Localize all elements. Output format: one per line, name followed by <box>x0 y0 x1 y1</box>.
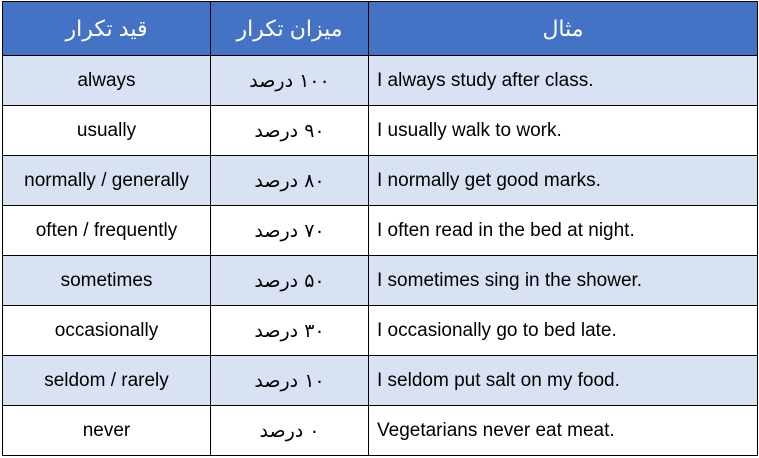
cell-adverb: sometimes <box>3 256 211 306</box>
cell-adverb: often / frequently <box>3 206 211 256</box>
cell-adverb: never <box>3 406 211 456</box>
cell-frequency: ۷۰ درصد <box>211 206 369 256</box>
table-header-row: قید تکرار میزان تکرار مثال <box>3 2 758 56</box>
cell-frequency: ۱۰ درصد <box>211 356 369 406</box>
cell-frequency: ۵۰ درصد <box>211 256 369 306</box>
cell-frequency: ۳۰ درصد <box>211 306 369 356</box>
cell-example: I sometimes sing in the shower. <box>369 256 758 306</box>
column-header-example: مثال <box>369 2 758 56</box>
cell-example: I usually walk to work. <box>369 106 758 156</box>
cell-frequency: ۰ درصد <box>211 406 369 456</box>
cell-frequency: ۸۰ درصد <box>211 156 369 206</box>
cell-frequency: ۹۰ درصد <box>211 106 369 156</box>
table-row: never ۰ درصد Vegetarians never eat meat. <box>3 406 758 456</box>
column-header-frequency: میزان تکرار <box>211 2 369 56</box>
cell-example: I occasionally go to bed late. <box>369 306 758 356</box>
frequency-adverbs-table-container: قید تکرار میزان تکرار مثال always ۱۰۰ در… <box>2 1 757 454</box>
table-row: always ۱۰۰ درصد I always study after cla… <box>3 56 758 106</box>
cell-frequency: ۱۰۰ درصد <box>211 56 369 106</box>
table-row: usually ۹۰ درصد I usually walk to work. <box>3 106 758 156</box>
frequency-adverbs-table: قید تکرار میزان تکرار مثال always ۱۰۰ در… <box>2 1 758 456</box>
cell-adverb: seldom / rarely <box>3 356 211 406</box>
cell-adverb: occasionally <box>3 306 211 356</box>
cell-example: I always study after class. <box>369 56 758 106</box>
column-header-adverb: قید تکرار <box>3 2 211 56</box>
cell-adverb: always <box>3 56 211 106</box>
table-header: قید تکرار میزان تکرار مثال <box>3 2 758 56</box>
cell-example: I normally get good marks. <box>369 156 758 206</box>
cell-example: I seldom put salt on my food. <box>369 356 758 406</box>
table-row: normally / generally ۸۰ درصد I normally … <box>3 156 758 206</box>
cell-example: Vegetarians never eat meat. <box>369 406 758 456</box>
table-row: often / frequently ۷۰ درصد I often read … <box>3 206 758 256</box>
table-row: seldom / rarely ۱۰ درصد I seldom put sal… <box>3 356 758 406</box>
table-row: occasionally ۳۰ درصد I occasionally go t… <box>3 306 758 356</box>
cell-example: I often read in the bed at night. <box>369 206 758 256</box>
table-row: sometimes ۵۰ درصد I sometimes sing in th… <box>3 256 758 306</box>
cell-adverb: usually <box>3 106 211 156</box>
table-body: always ۱۰۰ درصد I always study after cla… <box>3 56 758 456</box>
cell-adverb: normally / generally <box>3 156 211 206</box>
